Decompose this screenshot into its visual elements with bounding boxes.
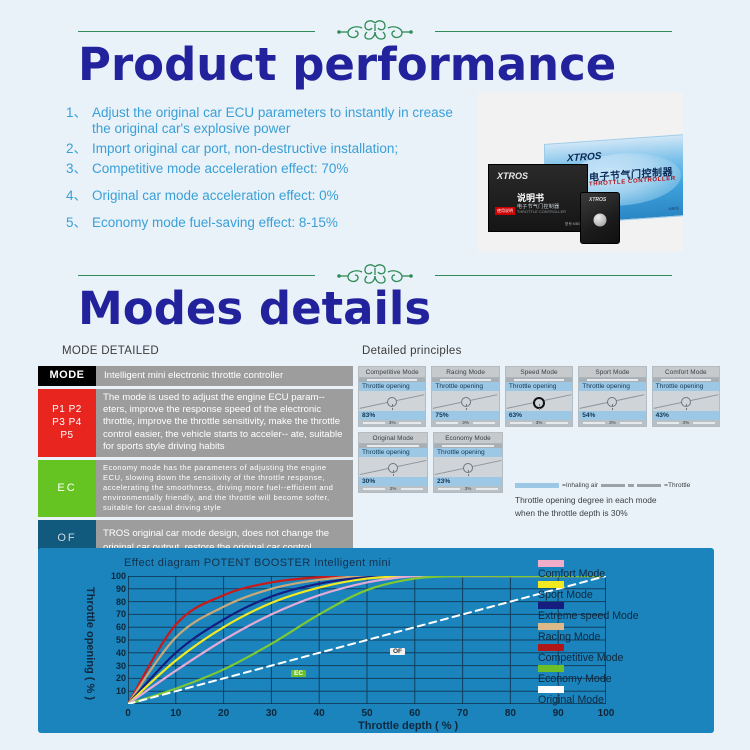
principle-legend-row: =Inhaling air =Throttle: [515, 482, 735, 489]
effect-diagram-chart: Effect diagram POTENT BOOSTER Intelligen…: [38, 548, 714, 733]
inhaling-air-swatch: [515, 483, 559, 488]
chart-legend-item: Competitive Mode: [538, 644, 718, 664]
chart-legend-item: Racing Mode: [538, 623, 718, 643]
mode-card: Racing Mode Throttle opening 75% 3%: [431, 366, 499, 427]
product-performance-list: 1、 Adjust the original car ECU parameter…: [66, 105, 466, 235]
list-item-number: 4、: [66, 188, 92, 204]
mode-card-title: Speed Mode: [506, 367, 572, 378]
mode-card-diagram: [506, 391, 572, 411]
chart-annotation-of: OF: [390, 648, 405, 655]
mode-card-topbar: [653, 378, 719, 382]
chart-legend-item: Extreme speed Mode: [538, 602, 718, 622]
device-knob-icon: [594, 214, 607, 227]
chart-legend-item: Economy Mode: [538, 665, 718, 685]
mode-card-diagram: [653, 391, 719, 411]
list-item-number: 3、: [66, 161, 92, 177]
throttle-axis-icon: [468, 470, 469, 477]
chart-legend-item: Comfort Mode: [538, 560, 718, 580]
mode-card: Original Mode Throttle opening 30% 3%: [358, 432, 428, 493]
manual-badge: 使用说明: [495, 207, 515, 215]
list-item-text: Competitive mode acceleration effect: 70…: [92, 161, 466, 177]
chart-x-tick-label: 30: [266, 708, 277, 719]
chart-legend-label: Extreme speed Mode: [538, 610, 718, 622]
list-item-number: 2、: [66, 141, 92, 157]
chart-legend-item: Original Mode: [538, 686, 718, 706]
chart-y-tick-label: 80: [116, 597, 126, 607]
mode-card-footer: 3%: [579, 420, 645, 426]
page-title-product-performance: Product performance: [78, 38, 616, 91]
table-row: MODE Intelligent mini electronic throttl…: [38, 366, 353, 386]
table-row: P1 P2 P3 P4 P5 The mode is used to adjus…: [38, 389, 353, 457]
chart-y-tick-label: 30: [116, 661, 126, 671]
list-item-text: Adjust the original car ECU parameters t…: [92, 105, 466, 137]
mode-value-cell: Economy mode has the parameters of adjus…: [96, 460, 353, 517]
list-item-number: 5、: [66, 215, 92, 231]
chart-plot-area: [128, 576, 606, 704]
chart-legend-swatch: [538, 623, 564, 630]
mode-value-cell: The mode is used to adjust the engine EC…: [96, 389, 353, 457]
chart-y-tick-label: 60: [116, 622, 126, 632]
chart-legend-item: Sport Mode: [538, 581, 718, 601]
mode-card-title: Comfort Mode: [653, 367, 719, 378]
chart-legend-label: Racing Mode: [538, 631, 718, 643]
chart-legend-label: Sport Mode: [538, 589, 718, 601]
list-item: 4、 Original car mode acceleration effect…: [66, 188, 466, 204]
chart-x-tick-label: 60: [409, 708, 420, 719]
mode-card-topbar: [432, 378, 498, 382]
mode-card-title: Racing Mode: [432, 367, 498, 378]
mode-card: Competitive Mode Throttle opening 83% 3%: [358, 366, 426, 427]
chart-legend: Comfort ModeSport ModeExtreme speed Mode…: [538, 560, 718, 707]
mode-card-footer: 3%: [434, 486, 502, 492]
throttle-axis-icon: [392, 404, 393, 411]
chart-y-tick-label: 10: [116, 686, 126, 696]
list-item-text: Original car mode acceleration effect: 0…: [92, 188, 466, 204]
chart-y-tick-label: 100: [111, 571, 126, 581]
mode-card-diagram: [434, 457, 502, 477]
throttle-swatch-mid: [628, 484, 634, 487]
mode-card: Sport Mode Throttle opening 54% 3%: [578, 366, 646, 427]
mode-card-bar-label: Throttle opening: [432, 382, 498, 391]
mode-card-bar-label: Throttle opening: [506, 382, 572, 391]
mode-card: Comfort Mode Throttle opening 43% 3%: [652, 366, 720, 427]
mode-card-percent: 63%: [506, 411, 572, 420]
mode-card-bar-label: Throttle opening: [434, 448, 502, 457]
page-title-modes-details: Modes details: [78, 282, 431, 335]
mode-card-title: Competitive Mode: [359, 367, 425, 378]
mode-card-footer: 3%: [359, 486, 427, 492]
list-item-text: Economy mode fuel-saving effect: 8-15%: [92, 215, 466, 231]
mode-card-foot-label: 3%: [389, 420, 396, 425]
mode-card-diagram: [359, 457, 427, 477]
product-page: Product performance 1、 Adjust the origin…: [0, 0, 750, 750]
chart-x-tick-label: 50: [361, 708, 372, 719]
mode-card-footer: 3%: [432, 420, 498, 426]
product-device: XTROS: [580, 192, 620, 244]
throttle-label: =Throttle: [664, 482, 690, 489]
table-row: EC Economy mode has the parameters of ad…: [38, 460, 353, 517]
mode-card-title: Original Mode: [359, 433, 427, 444]
chart-legend-swatch: [538, 602, 564, 609]
mode-card-title: Sport Mode: [579, 367, 645, 378]
chart-y-tick-label: 20: [116, 673, 126, 683]
chart-x-tick-label: 0: [125, 708, 131, 719]
chart-x-tick-label: 90: [553, 708, 564, 719]
mode-card-bar-label: Throttle opening: [579, 382, 645, 391]
mode-card-foot-label: 3%: [390, 486, 397, 491]
principle-cards-row-1: Competitive Mode Throttle opening 83% 3%…: [358, 366, 720, 427]
principle-legend-caption-line1: Throttle opening degree in each mode: [515, 494, 735, 506]
chart-y-ticks: 102030405060708090100: [100, 572, 126, 708]
manual-english-label: THROTTLE CONTROLLER: [517, 210, 566, 214]
chart-legend-swatch: [538, 686, 564, 693]
box-model-label: MB05: [669, 206, 679, 212]
principle-legend: =Inhaling air =Throttle Throttle opening…: [515, 482, 735, 519]
chart-title: Effect diagram POTENT BOOSTER Intelligen…: [124, 557, 391, 569]
throttle-swatch-left: [601, 484, 625, 487]
mode-card-topbar: [434, 444, 502, 448]
list-item: 1、 Adjust the original car ECU parameter…: [66, 105, 466, 137]
chart-x-tick-label: 40: [314, 708, 325, 719]
throttle-axis-icon: [539, 404, 540, 411]
mode-value-cell: Intelligent mini electronic throttle con…: [96, 366, 353, 386]
mode-card-foot-label: 3%: [462, 420, 469, 425]
mode-card-percent: 30%: [359, 477, 427, 486]
chart-legend-swatch: [538, 560, 564, 567]
mode-card: Speed Mode Throttle opening 63% 3%: [505, 366, 573, 427]
mode-card-foot-label: 3%: [683, 420, 690, 425]
product-manual: XTROS 说明书 使用说明 电子节气门控制器 THROTTLE CONTROL…: [488, 164, 588, 232]
chart-y-axis-label: Throttle opening ( % ): [82, 574, 98, 714]
mode-card-topbar: [506, 378, 572, 382]
throttle-swatch-right: [637, 484, 661, 487]
mode-key-cell: P1 P2 P3 P4 P5: [38, 389, 96, 457]
chart-legend-label: Comfort Mode: [538, 568, 718, 580]
principle-cards: Competitive Mode Throttle opening 83% 3%…: [358, 366, 720, 498]
list-item: 2、 Import original car port, non-destruc…: [66, 141, 466, 157]
manual-brand-label: XTROS: [497, 171, 528, 181]
chart-legend-label: Economy Mode: [538, 673, 718, 685]
manual-sub-chinese: 电子节气门控制器: [517, 203, 559, 210]
mode-card-percent: 75%: [432, 411, 498, 420]
mode-card-footer: 3%: [359, 420, 425, 426]
mode-card-footer: 3%: [506, 420, 572, 426]
chart-y-tick-label: 90: [116, 584, 126, 594]
mode-card-diagram: [359, 391, 425, 411]
mode-card-topbar: [359, 378, 425, 382]
mode-card-bar-label: Throttle opening: [653, 382, 719, 391]
throttle-axis-icon: [686, 404, 687, 411]
mode-card-bar-label: Throttle opening: [359, 382, 425, 391]
chart-x-tick-label: 20: [218, 708, 229, 719]
chart-legend-swatch: [538, 581, 564, 588]
mode-card-footer: 3%: [653, 420, 719, 426]
chart-x-axis-label: Throttle depth ( % ): [358, 720, 458, 732]
throttle-axis-icon: [393, 470, 394, 477]
mode-card-bar-label: Throttle opening: [359, 448, 427, 457]
chart-y-tick-label: 50: [116, 635, 126, 645]
chart-y-tick-label: 70: [116, 609, 126, 619]
list-item: 3、 Competitive mode acceleration effect:…: [66, 161, 466, 177]
throttle-axis-icon: [466, 404, 467, 411]
chart-y-tick-label: 40: [116, 648, 126, 658]
mode-card-diagram: [579, 391, 645, 411]
principle-legend-caption-line2: when the throttle depth is 30%: [515, 507, 735, 519]
mode-card-foot-label: 3%: [536, 420, 543, 425]
mode-key-text: P1 P2 P3 P4 P5: [52, 403, 82, 442]
list-item: 5、 Economy mode fuel-saving effect: 8-15…: [66, 215, 466, 231]
mode-card-topbar: [579, 378, 645, 382]
mode-card: Economy Mode Throttle opening 23% 3%: [433, 432, 503, 493]
mode-card-percent: 83%: [359, 411, 425, 420]
chart-x-tick-label: 10: [170, 708, 181, 719]
mode-key-cell: EC: [38, 460, 96, 517]
mode-detailed-table: MODE Intelligent mini electronic throttl…: [38, 366, 353, 561]
device-brand-label: XTROS: [589, 197, 606, 203]
mode-card-title: Economy Mode: [434, 433, 502, 444]
list-item-number: 1、: [66, 105, 92, 137]
mode-detailed-label: MODE DETAILED: [62, 345, 159, 357]
chart-legend-swatch: [538, 665, 564, 672]
inhaling-air-label: =Inhaling air: [562, 482, 598, 489]
chart-legend-label: Original Mode: [538, 694, 718, 706]
throttle-axis-icon: [612, 404, 613, 411]
chart-x-tick-label: 80: [505, 708, 516, 719]
detailed-principles-label: Detailed principles: [362, 345, 462, 357]
list-item-text: Import original car port, non-destructiv…: [92, 141, 466, 157]
product-photo: XTROS 电子节气门控制器 THROTTLE CONTROLLER MB05 …: [478, 92, 683, 252]
chart-legend-label: Competitive Mode: [538, 652, 718, 664]
mode-card-topbar: [359, 444, 427, 448]
chart-x-tick-label: 100: [598, 708, 615, 719]
mode-card-percent: 54%: [579, 411, 645, 420]
mode-card-percent: 43%: [653, 411, 719, 420]
chart-annotation-ec: EC: [291, 670, 306, 677]
chart-legend-swatch: [538, 644, 564, 651]
mode-card-foot-label: 3%: [609, 420, 616, 425]
mode-card-diagram: [432, 391, 498, 411]
chart-x-tick-label: 70: [457, 708, 468, 719]
mode-card-percent: 23%: [434, 477, 502, 486]
mode-key-cell: MODE: [38, 366, 96, 386]
mode-card-foot-label: 3%: [465, 486, 472, 491]
